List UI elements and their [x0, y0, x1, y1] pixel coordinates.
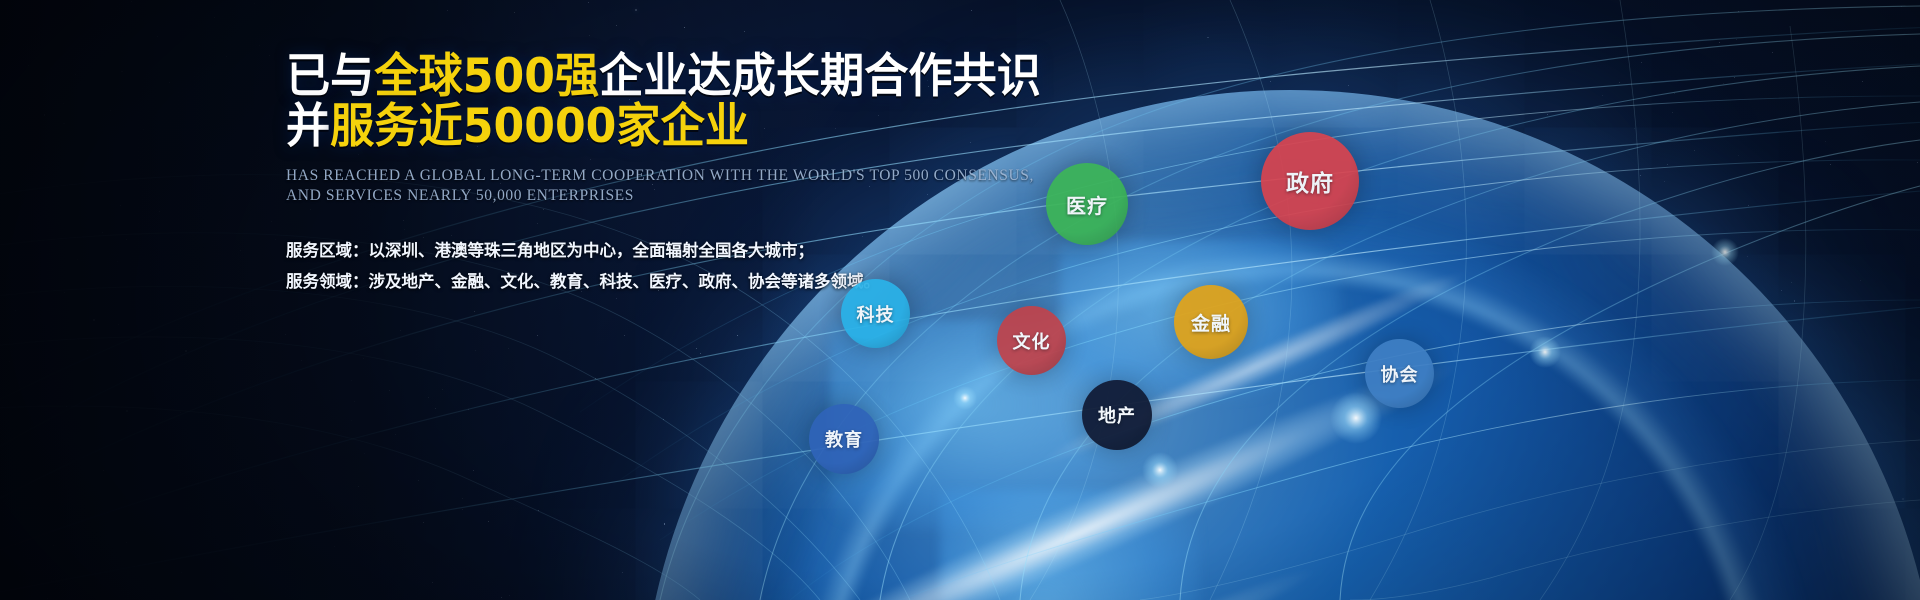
- industry-bubble-label: 科技: [857, 301, 895, 327]
- industry-bubble[interactable]: 医疗: [1046, 163, 1128, 245]
- headline-seg-2: 全球500强: [374, 49, 599, 104]
- headline-seg-4: 并: [286, 99, 330, 154]
- industry-bubble-label: 医疗: [1066, 190, 1108, 219]
- industry-bubble-label: 文化: [1013, 328, 1051, 354]
- industry-bubble[interactable]: 文化: [997, 306, 1066, 375]
- industry-bubble[interactable]: 政府: [1261, 132, 1359, 230]
- headline-seg-1: 已与: [286, 49, 374, 104]
- service-area-line: 服务区域：以深圳、港澳等珠三角地区为中心，全面辐射全国各大城市；: [286, 236, 1046, 267]
- copy-block: 已与全球500强企业达成长期合作共识 并服务近50000家企业 HAS REAC…: [286, 52, 1046, 298]
- promo-banner: 已与全球500强企业达成长期合作共识 并服务近50000家企业 HAS REAC…: [0, 0, 1920, 600]
- industry-bubble-label: 协会: [1381, 361, 1419, 387]
- industry-bubble[interactable]: 教育: [809, 404, 879, 474]
- industry-bubble[interactable]: 地产: [1082, 380, 1152, 450]
- service-field-line: 服务领域：涉及地产、金融、文化、教育、科技、医疗、政府、协会等诸多领域。: [286, 267, 1046, 298]
- headline-line-1: 已与全球500强企业达成长期合作共识: [286, 52, 1000, 102]
- industry-bubble[interactable]: 协会: [1365, 339, 1434, 408]
- subtitle-line-2: AND SERVICES NEARLY 50,000 ENTERPRISES: [286, 186, 1046, 206]
- industry-bubble[interactable]: 科技: [841, 279, 910, 348]
- industry-bubble-label: 教育: [825, 426, 863, 452]
- body-block: 服务区域：以深圳、港澳等珠三角地区为中心，全面辐射全国各大城市； 服务领域：涉及…: [286, 236, 1046, 298]
- industry-bubble[interactable]: 金融: [1174, 285, 1248, 359]
- headline-line-2: 并服务近50000家企业: [286, 102, 1000, 152]
- subtitle-line-1: HAS REACHED A GLOBAL LONG-TERM COOPERATI…: [286, 166, 1046, 186]
- industry-bubble-label: 政府: [1286, 164, 1334, 198]
- industry-bubble-label: 地产: [1098, 402, 1136, 428]
- industry-bubble-label: 金融: [1191, 309, 1231, 336]
- headline-seg-5: 服务近50000家企业: [330, 99, 749, 154]
- headline-seg-3: 企业达成长期合作共识: [599, 49, 1041, 104]
- subtitle-block: HAS REACHED A GLOBAL LONG-TERM COOPERATI…: [286, 166, 1046, 206]
